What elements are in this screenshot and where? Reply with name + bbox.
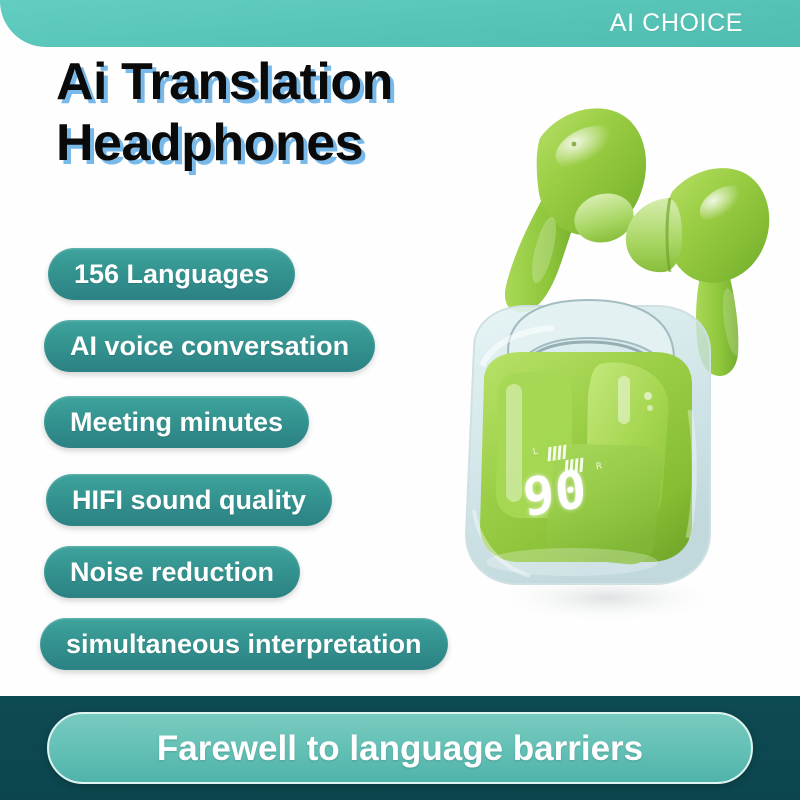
feature-label: Meeting minutes bbox=[70, 409, 283, 436]
feature-label: simultaneous interpretation bbox=[66, 631, 422, 658]
feature-pill-simultaneous-interpretation[interactable]: simultaneous interpretation bbox=[40, 618, 448, 670]
battery-bars-left-icon bbox=[547, 445, 567, 461]
battery-right-marker: R bbox=[595, 462, 603, 473]
product-ad-page: AI CHOICE Ai Translation Headphones bbox=[0, 0, 800, 800]
charging-case bbox=[466, 300, 710, 584]
earbuds-and-case-illustration bbox=[400, 90, 800, 630]
left-earbud bbox=[505, 108, 646, 312]
product-image bbox=[400, 90, 800, 630]
ai-choice-label: AI CHOICE bbox=[610, 11, 743, 36]
battery-bars-right-icon bbox=[564, 458, 584, 474]
tagline-label: Farewell to language barriers bbox=[157, 731, 643, 766]
feature-pill-noise-reduction[interactable]: Noise reduction bbox=[44, 546, 300, 598]
feature-label: AI voice conversation bbox=[70, 333, 349, 360]
feature-pill-meeting-minutes[interactable]: Meeting minutes bbox=[44, 396, 309, 448]
feature-pill-languages[interactable]: 156 Languages bbox=[48, 248, 295, 300]
bottom-banner: Farewell to language barriers bbox=[0, 696, 800, 800]
tagline-pill[interactable]: Farewell to language barriers bbox=[47, 712, 753, 784]
top-banner: AI CHOICE bbox=[0, 0, 800, 47]
feature-label: Noise reduction bbox=[70, 559, 274, 586]
feature-pill-voice-conversation[interactable]: AI voice conversation bbox=[44, 320, 375, 372]
feature-pill-hifi-sound[interactable]: HIFI sound quality bbox=[46, 474, 332, 526]
feature-label: HIFI sound quality bbox=[72, 487, 306, 514]
feature-label: 156 Languages bbox=[74, 261, 269, 288]
